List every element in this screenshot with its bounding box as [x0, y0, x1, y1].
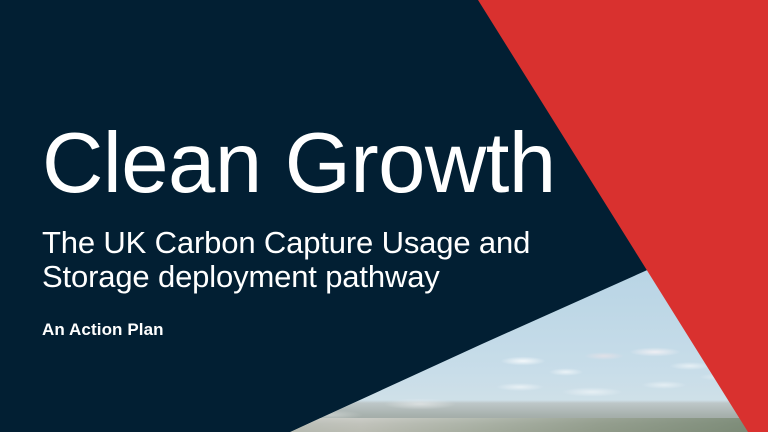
page-title: Clean Growth	[42, 122, 642, 206]
page-subtitle: The UK Carbon Capture Usage and Storage …	[42, 206, 602, 294]
report-cover: Clean Growth The UK Carbon Capture Usage…	[0, 0, 768, 432]
cover-text-block: Clean Growth The UK Carbon Capture Usage…	[42, 122, 642, 340]
page-kicker: An Action Plan	[42, 294, 642, 340]
